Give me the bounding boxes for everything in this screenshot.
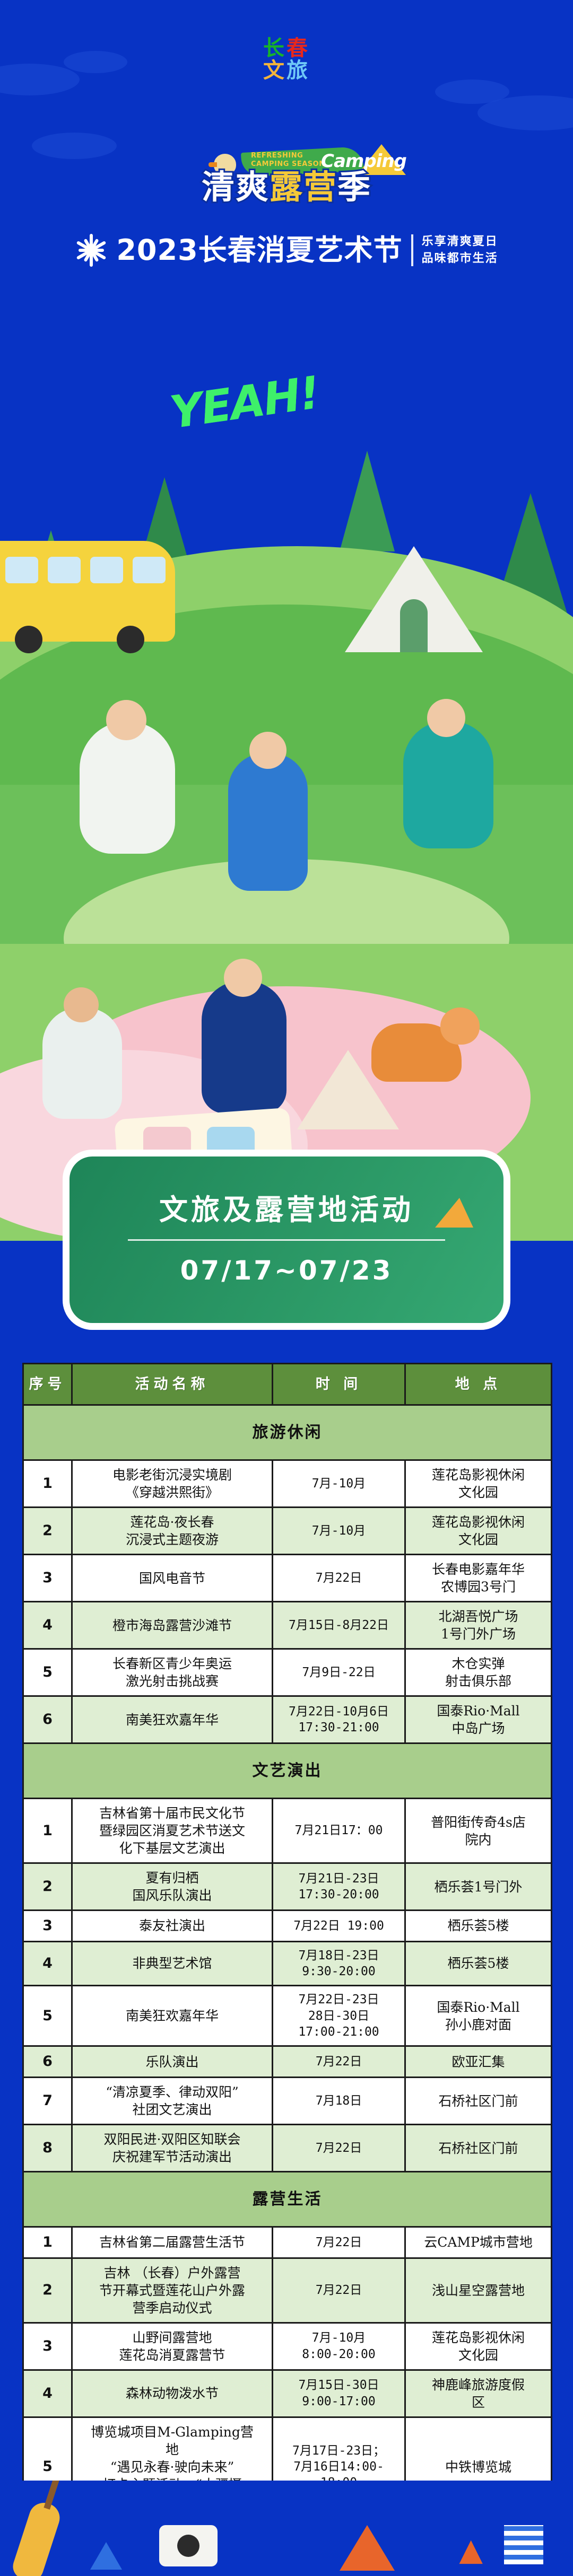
person-head — [64, 987, 99, 1022]
table-row: 3国风电音节7月22日长春电影嘉年华农博园3号门 — [23, 1555, 552, 1602]
cell-time: 7月22日-23日28日-30日17:00-21:00 — [273, 1986, 405, 2046]
cell-time: 7月22日 — [273, 2046, 405, 2078]
person-head — [106, 700, 146, 740]
cell-index: 6 — [23, 2046, 72, 2078]
divider — [411, 234, 413, 266]
poster-footer: ▲ — [0, 2481, 573, 2576]
cell-place: 栖乐荟1号门外 — [405, 1863, 552, 1911]
cell-place: 北湖吾悦广场1号门外广场 — [405, 1602, 552, 1649]
cell-index: 1 — [23, 1799, 72, 1863]
cell-time: 7月-10月 — [273, 1508, 405, 1555]
changchun-culture-tourism-logo: 长春 文旅 — [0, 37, 573, 82]
cell-place: 栖乐荟5楼 — [405, 1911, 552, 1942]
table-section-row: 旅游休闲 — [23, 1405, 552, 1460]
cell-index: 1 — [23, 1460, 72, 1508]
cell-activity-name: 电影老街沉浸实境剧《穿越洪熙街》 — [72, 1460, 273, 1508]
bus-illustration — [0, 541, 175, 642]
cell-time: 7月15日-30日9:00-17:00 — [273, 2370, 405, 2417]
table-row: 2莲花岛·夜长春沉浸式主题夜游7月-10月莲花岛影视休闲文化园 — [23, 1508, 552, 1555]
cell-place: 长春电影嘉年华农博园3号门 — [405, 1555, 552, 1602]
cell-index: 3 — [23, 1911, 72, 1942]
subtitle-line1: 乐享清爽夏日 — [422, 233, 498, 250]
cell-activity-name: 南美狂欢嘉年华 — [72, 1696, 273, 1743]
cell-place: 神鹿峰旅游度假区 — [405, 2370, 552, 2417]
activities-table: 序号 活动名称 时 间 地 点 旅游休闲1电影老街沉浸实境剧《穿越洪熙街》7月-… — [22, 1363, 552, 2518]
flag-icon — [504, 2525, 543, 2564]
logo-char-lv: 旅 — [286, 58, 310, 83]
column-header-no: 序号 — [23, 1364, 72, 1405]
cell-time: 7月22日 19:00 — [273, 1911, 405, 1942]
tree-icon — [340, 451, 395, 551]
cell-index: 2 — [23, 2258, 72, 2323]
table-row: 6南美狂欢嘉年华7月22日-10月6日17:30-21:00国泰Rio·Mall… — [23, 1696, 552, 1743]
cell-activity-name: 森林动物泼水节 — [72, 2370, 273, 2417]
guitar-icon — [10, 2499, 64, 2576]
cell-place: 国泰Rio·Mall中岛广场 — [405, 1696, 552, 1743]
cell-index: 6 — [23, 1696, 72, 1743]
cell-activity-name: 国风电音节 — [72, 1555, 273, 1602]
cloud-decoration — [435, 80, 509, 104]
logo-char-wen: 文 — [263, 58, 286, 83]
table-row: 1吉林省第十届市民文化节暨绿园区消夏艺术节送文化下基层文艺演出7月21日17：0… — [23, 1799, 552, 1863]
camping-english-tagline: REFRESHING CAMPING SEASON — [251, 152, 325, 169]
table-section-title: 文艺演出 — [23, 1743, 552, 1799]
table-body: 旅游休闲1电影老街沉浸实境剧《穿越洪熙街》7月-10月莲花岛影视休闲文化园2莲花… — [23, 1405, 552, 2517]
cell-index: 4 — [23, 2370, 72, 2417]
cell-time: 7月22日 — [273, 2258, 405, 2323]
cell-activity-name: 非典型艺术馆 — [72, 1941, 273, 1986]
cell-activity-name: 山野间露营地莲花岛消夏露营节 — [72, 2323, 273, 2370]
cell-activity-name: 乐队演出 — [72, 2046, 273, 2078]
person-illustration — [42, 1007, 122, 1119]
cell-time: 7月21日17：00 — [273, 1799, 405, 1863]
person-head — [249, 732, 286, 769]
cell-activity-name: 长春新区青少年奥运激光射击挑战赛 — [72, 1649, 273, 1696]
cell-place: 云CAMP城市营地 — [405, 2227, 552, 2258]
table-section-title: 露营生活 — [23, 2172, 552, 2227]
person-illustration — [80, 721, 175, 854]
person-illustration — [228, 753, 308, 891]
dog-head — [440, 1007, 480, 1045]
festival-subtitle: 乐享清爽夏日 品味都市生活 — [422, 233, 498, 267]
cell-activity-name: 双阳民进·双阳区知联会庆祝建军节活动演出 — [72, 2125, 273, 2172]
column-header-place: 地 点 — [405, 1364, 552, 1405]
table-row: 2夏有归栖国风乐队演出7月21日-23日17:30-20:00栖乐荟1号门外 — [23, 1863, 552, 1911]
snowflake-icon — [75, 234, 108, 267]
table-row: 4非典型艺术馆7月18日-23日9:30-20:00栖乐荟5楼 — [23, 1941, 552, 1986]
cell-activity-name: 吉林省第二届露营生活节 — [72, 2227, 273, 2258]
table-row: 4森林动物泼水节7月15日-30日9:00-17:00神鹿峰旅游度假区 — [23, 2370, 552, 2417]
cell-time: 7月22日 — [273, 1555, 405, 1602]
table-header-row: 序号 活动名称 时 间 地 点 — [23, 1364, 552, 1405]
cell-activity-name: 南美狂欢嘉年华 — [72, 1986, 273, 2046]
cell-time: 7月9日-22日 — [273, 1649, 405, 1696]
cell-index: 7 — [23, 2078, 72, 2125]
cell-activity-name: “清凉夏季、律动双阳”社团文艺演出 — [72, 2078, 273, 2125]
cell-time: 7月22日-10月6日17:30-21:00 — [273, 1696, 405, 1743]
title-part-ji: 季 — [337, 168, 371, 206]
section-banner-date-range: 07/17~07/23 — [70, 1255, 503, 1286]
column-header-name: 活动名称 — [72, 1364, 273, 1405]
table-section-title: 旅游休闲 — [23, 1405, 552, 1460]
cell-index: 3 — [23, 2323, 72, 2370]
table-row: 2吉林 （长春）户外露营节开幕式暨莲花山户外露营季启动仪式7月22日浅山星空露营… — [23, 2258, 552, 2323]
activities-table-wrapper: 序号 活动名称 时 间 地 点 旅游休闲1电影老街沉浸实境剧《穿越洪熙街》7月-… — [22, 1363, 551, 2518]
camping-en-line1: REFRESHING — [251, 152, 325, 160]
festival-title-row: 2023长春消夏艺术节 乐享清爽夏日 品味都市生活 — [0, 233, 573, 267]
table-row: 3泰友社演出7月22日 19:00栖乐荟5楼 — [23, 1911, 552, 1942]
cell-place: 莲花岛影视休闲文化园 — [405, 1508, 552, 1555]
cell-place: 普阳街传奇4s店院内 — [405, 1799, 552, 1863]
logo-char-chun: 春 — [286, 36, 310, 60]
camping-season-title: 清爽露营季 — [0, 171, 573, 204]
tent-icon — [340, 2525, 395, 2571]
table-row: 1电影老街沉浸实境剧《穿越洪熙街》7月-10月莲花岛影视休闲文化园 — [23, 1460, 552, 1508]
cell-place: 欧亚汇集 — [405, 2046, 552, 2078]
cell-index: 2 — [23, 1508, 72, 1555]
table-row: 4橙市海岛露营沙滩节7月15日-8月22日北湖吾悦广场1号门外广场 — [23, 1602, 552, 1649]
cell-index: 5 — [23, 1649, 72, 1696]
camera-icon — [159, 2525, 218, 2566]
cell-activity-name: 夏有归栖国风乐队演出 — [72, 1863, 273, 1911]
cell-place: 浅山星空露营地 — [405, 2258, 552, 2323]
cell-time: 7月18日-23日9:30-20:00 — [273, 1941, 405, 1986]
table-row: 6乐队演出7月22日欧亚汇集 — [23, 2046, 552, 2078]
cell-time: 7月15日-8月22日 — [273, 1602, 405, 1649]
cell-place: 莲花岛影视休闲文化园 — [405, 1460, 552, 1508]
cell-place: 木仓实弹射击俱乐部 — [405, 1649, 552, 1696]
cell-place: 石桥社区门前 — [405, 2125, 552, 2172]
cell-place: 石桥社区门前 — [405, 2078, 552, 2125]
table-row: 5南美狂欢嘉年华7月22日-23日28日-30日17:00-21:00国泰Rio… — [23, 1986, 552, 2046]
tent-icon — [435, 1198, 479, 1228]
table-section-row: 露营生活 — [23, 2172, 552, 2227]
subtitle-line2: 品味都市生活 — [422, 250, 498, 267]
cell-index: 3 — [23, 1555, 72, 1602]
cell-place: 莲花岛影视休闲文化园 — [405, 2323, 552, 2370]
section-banner: 文旅及露营地活动 07/17~07/23 — [63, 1150, 510, 1330]
person-illustration — [202, 981, 286, 1114]
cell-place: 国泰Rio·Mall孙小鹿对面 — [405, 1986, 552, 2046]
cell-index: 8 — [23, 2125, 72, 2172]
table-row: 5长春新区青少年奥运激光射击挑战赛7月9日-22日木仓实弹射击俱乐部 — [23, 1649, 552, 1696]
cell-activity-name: 莲花岛·夜长春沉浸式主题夜游 — [72, 1508, 273, 1555]
cell-index: 5 — [23, 1986, 72, 2046]
logo-char-chang: 长 — [263, 36, 286, 60]
column-header-time: 时 间 — [273, 1364, 405, 1405]
person-illustration — [403, 721, 493, 848]
title-part-luying: 露营 — [270, 168, 337, 206]
tent-icon: ▲ — [459, 2531, 483, 2568]
person-head — [224, 959, 262, 997]
cell-time: 7月22日 — [273, 2125, 405, 2172]
table-row: 3山野间露营地莲花岛消夏露营节7月-10月8:00-20:00莲花岛影视休闲文化… — [23, 2323, 552, 2370]
cell-activity-name: 泰友社演出 — [72, 1911, 273, 1942]
table-row: 8双阳民进·双阳区知联会庆祝建军节活动演出7月22日石桥社区门前 — [23, 2125, 552, 2172]
cloud-decoration — [32, 133, 117, 159]
table-head: 序号 活动名称 时 间 地 点 — [23, 1364, 552, 1405]
cell-time: 7月22日 — [273, 2227, 405, 2258]
cell-place: 栖乐荟5楼 — [405, 1941, 552, 1986]
table-section-row: 文艺演出 — [23, 1743, 552, 1799]
cell-time: 7月18日 — [273, 2078, 405, 2125]
cell-index: 4 — [23, 1602, 72, 1649]
cell-activity-name: 吉林省第十届市民文化节暨绿园区消夏艺术节送文化下基层文艺演出 — [72, 1799, 273, 1863]
cell-activity-name: 橙市海岛露营沙滩节 — [72, 1602, 273, 1649]
divider — [128, 1239, 445, 1241]
person-head — [427, 699, 465, 737]
cell-index: 2 — [23, 1863, 72, 1911]
cell-time: 7月-10月8:00-20:00 — [273, 2323, 405, 2370]
tent-icon — [90, 2542, 122, 2570]
title-part-qingshuang: 清爽 — [202, 168, 270, 206]
table-row: 1吉林省第二届露营生活节7月22日云CAMP城市营地 — [23, 2227, 552, 2258]
cell-time: 7月21日-23日17:30-20:00 — [273, 1863, 405, 1911]
table-row: 7“清凉夏季、律动双阳”社团文艺演出7月18日石桥社区门前 — [23, 2078, 552, 2125]
cell-index: 4 — [23, 1941, 72, 1986]
tent-illustration — [345, 546, 483, 652]
page-title: 2023长春消夏艺术节 — [116, 236, 402, 265]
cell-time: 7月-10月 — [273, 1460, 405, 1508]
camping-illustration: YEAH! — [0, 318, 573, 1241]
cell-index: 1 — [23, 2227, 72, 2258]
cell-activity-name: 吉林 （长春）户外露营节开幕式暨莲花山户外露营季启动仪式 — [72, 2258, 273, 2323]
